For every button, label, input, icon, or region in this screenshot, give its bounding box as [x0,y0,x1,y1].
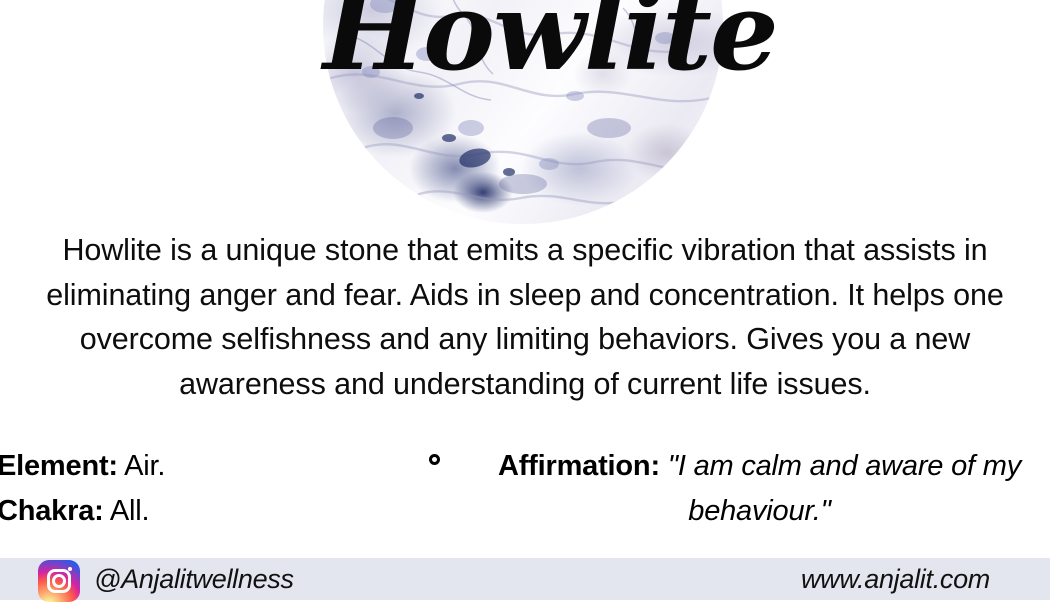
chakra-value: All. [110,495,150,527]
circle-outline-bullet-icon [429,454,445,465]
element-label: Element: [0,450,118,482]
instagram-handle[interactable]: @Anjalitwellness [94,564,294,595]
affirmation-quote: "I am calm and aware of my behaviour." [668,450,1021,527]
stone-name-title: Howlite [323,0,723,86]
website-url[interactable]: www.anjalit.com [801,564,1050,595]
footer-bar: @Anjalitwellness www.anjalit.com [0,558,1050,600]
chakra-row: Chakra: All. [0,489,415,534]
affirmation-row: Affirmation: "I am calm and aware of my … [445,444,1050,534]
stone-description: Howlite is a unique stone that emits a s… [25,228,1025,406]
attributes-left-column: Element: Air. Chakra: All. [0,444,415,534]
footer-social[interactable]: @Anjalitwellness [0,557,294,602]
instagram-icon[interactable] [38,560,80,602]
affirmation-list-item: Affirmation: "I am calm and aware of my … [415,444,1050,534]
element-row: Element: Air. [0,444,415,489]
stone-hero-image: Howlite [323,0,723,224]
chakra-label: Chakra: [0,495,104,527]
affirmation-label: Affirmation: [498,450,660,482]
element-value: Air. [124,450,165,482]
attributes-section: Element: Air. Chakra: All. Affirmation: … [0,444,1050,534]
